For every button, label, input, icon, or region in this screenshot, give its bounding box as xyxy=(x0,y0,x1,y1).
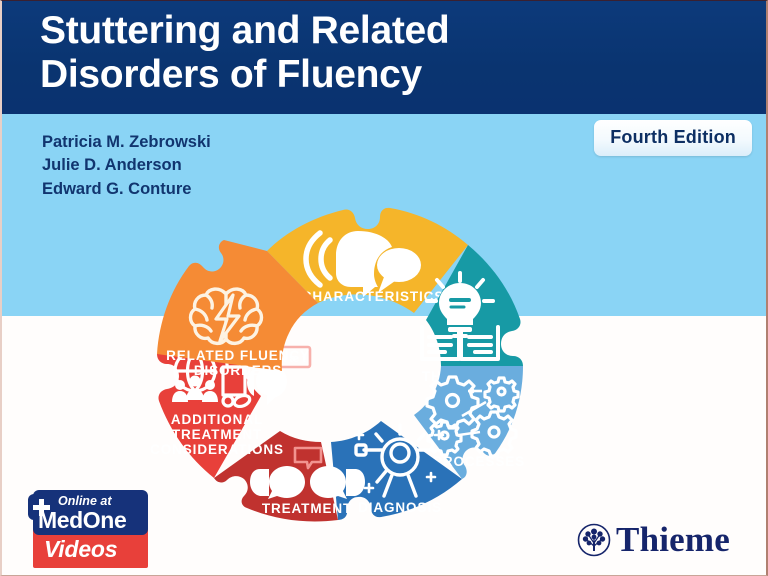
book-cover: Stuttering and Related Disorders of Flue… xyxy=(0,0,768,576)
edition-badge: Fourth Edition xyxy=(594,120,752,156)
medone-online-label: Online at xyxy=(58,494,111,508)
title-banner: Stuttering and Related Disorders of Flue… xyxy=(2,1,766,114)
puzzle-piece-rfd-label-line1: RELATED FLUENCY xyxy=(166,348,310,363)
puzzle-piece-characteristics-label: CHARACTERISTICS xyxy=(302,289,445,304)
puzzle-ring-diagram: CHARACTERISTICS xyxy=(62,169,662,559)
puzzle-piece-atc-label-line2: TREATMENT xyxy=(172,427,262,442)
medone-badge[interactable]: Online at MedOne Videos xyxy=(28,490,148,568)
thieme-tree-icon xyxy=(577,523,611,557)
author-name: Patricia M. Zebrowski xyxy=(42,131,211,154)
puzzle-piece-diagnosis-label: DIAGNOSIS xyxy=(358,500,442,515)
puzzle-piece-treatment-label: TREATMENT xyxy=(262,501,352,516)
puzzle-piece-atc-label-line1: ADDITIONAL xyxy=(171,412,263,427)
medone-brand-label: MedOne xyxy=(38,507,126,534)
puzzle-piece-processes-label: PROCESSES xyxy=(433,454,525,469)
thieme-wordmark: Thieme xyxy=(616,522,730,557)
medone-videos-label: Videos xyxy=(44,536,117,563)
puzzle-piece-rfd-label-line2: DISORDERS xyxy=(194,363,282,378)
book-title: Stuttering and Related Disorders of Flue… xyxy=(40,9,740,97)
puzzle-piece-atc-label-line3: CONSIDERATIONS xyxy=(150,442,284,457)
thieme-logo: Thieme xyxy=(577,522,730,557)
